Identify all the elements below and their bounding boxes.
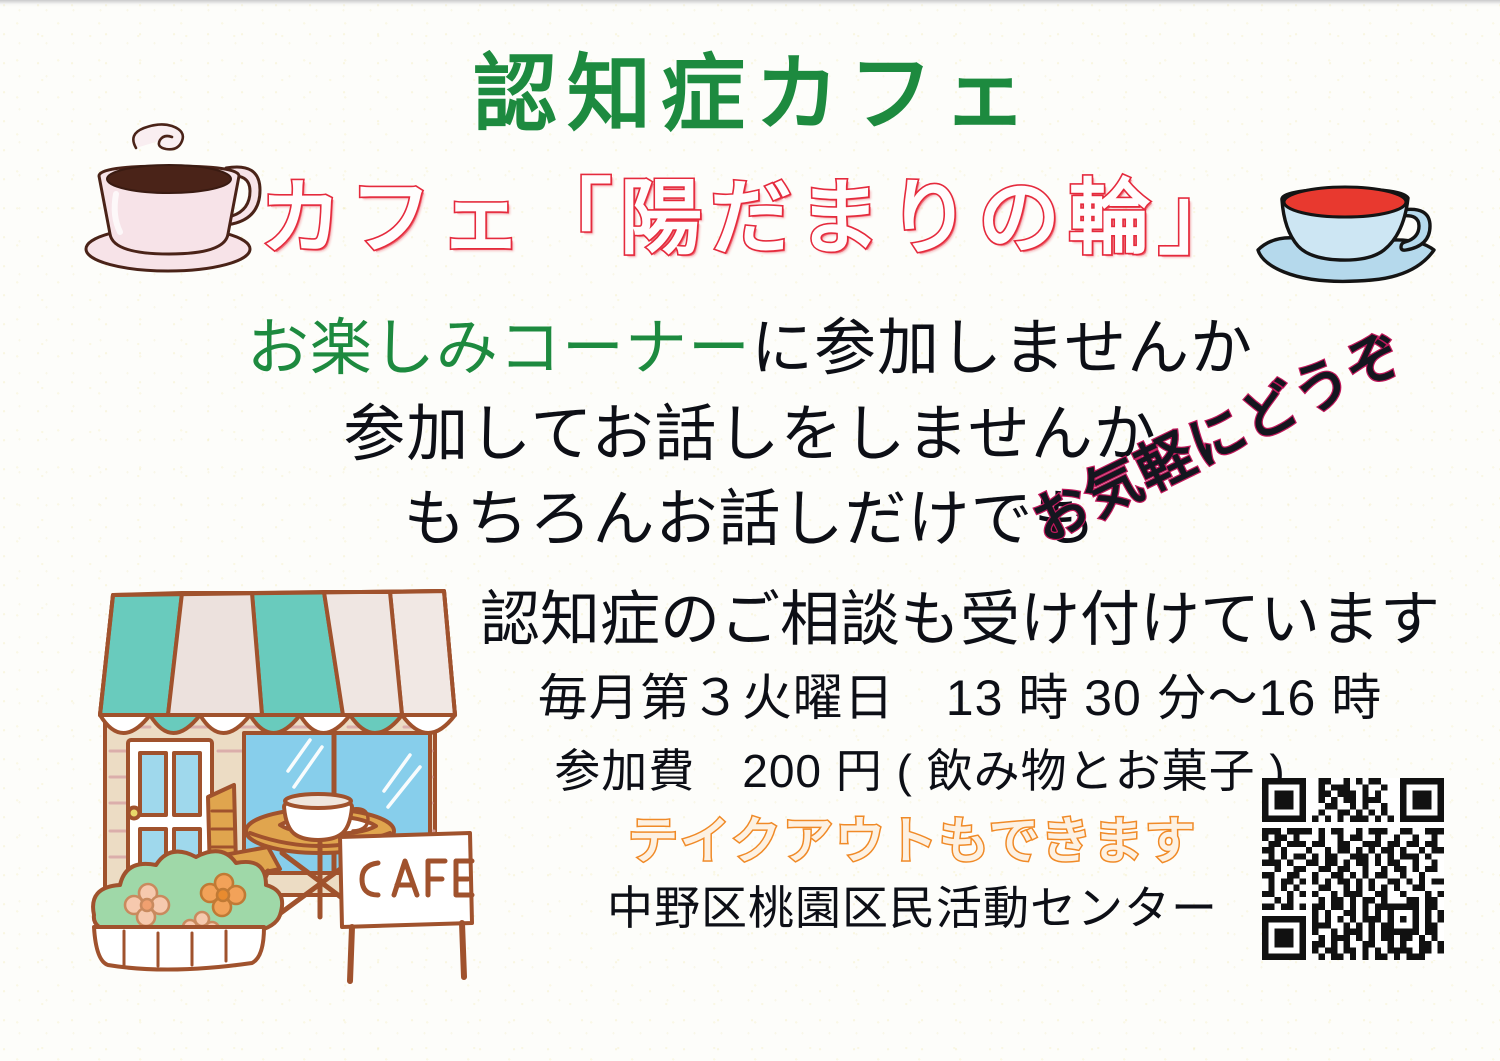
- cafe-storefront-icon: [72, 575, 482, 985]
- poster-canvas: 認知症カフェ カフェ「陽だまりの輪」 お楽しみコーナーに参加しませんか 参加して…: [0, 0, 1500, 1061]
- poster-title-subtitle: カフェ「陽だまりの輪」: [0, 178, 1500, 260]
- invitation-line-3: もちろんお話しだけでも: [0, 477, 1500, 563]
- invitation-line-1-highlight: お楽しみコーナー: [247, 314, 751, 383]
- qr-code-icon[interactable]: [1262, 778, 1444, 960]
- scan-edge-artifact: [0, 0, 1500, 7]
- consultation-notice: 認知症のご相談も受け付けています: [440, 588, 1480, 653]
- poster-title-main: 認知症カフェ: [0, 52, 1500, 136]
- schedule-line: 毎月第３火曜日 13 時 30 分〜16 時: [440, 671, 1480, 726]
